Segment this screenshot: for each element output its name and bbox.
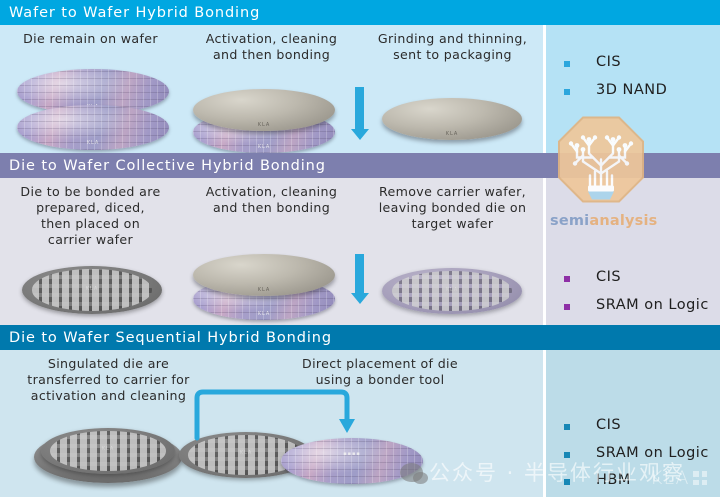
section-1-steps: Die remain on wafer KLA KLA Activation, … bbox=[0, 25, 543, 153]
step-direct-placement-of-die: Direct placement of die using a bonder t… bbox=[217, 350, 543, 497]
section-3-body: Singulated die are transferred to carrie… bbox=[0, 350, 720, 497]
bullet-square-icon bbox=[564, 479, 570, 485]
wafer-metal-upper: KLA bbox=[193, 89, 335, 131]
step-grinding-thinning: Grinding and thinning, sent to packaging… bbox=[362, 25, 543, 153]
application-label: CIS bbox=[596, 418, 621, 433]
wafer-target-iridescent: ▪▪▪▪ bbox=[281, 438, 423, 484]
kla-logo-text: KLA bbox=[650, 467, 689, 489]
applications-list: CIS SRAM on Logic bbox=[564, 270, 714, 325]
wafer-carrier-with-die: KLA bbox=[22, 266, 162, 314]
bullet-square-icon bbox=[564, 424, 570, 430]
section-2-steps: Die to be bonded are prepared, diced, th… bbox=[0, 178, 543, 325]
section-3-steps: Singulated die are transferred to carrie… bbox=[0, 350, 543, 497]
kla-wafer-mark: KLA bbox=[258, 311, 271, 317]
wordmark-semi: semi bbox=[550, 213, 589, 229]
semianalysis-logo-icon bbox=[557, 113, 645, 218]
kla-plus-icon bbox=[693, 471, 707, 485]
application-label: SRAM on Logic bbox=[596, 446, 709, 461]
applications-list: CIS 3D NAND bbox=[564, 55, 714, 110]
kla-wafer-mark: KLA bbox=[446, 287, 459, 293]
list-item: CIS bbox=[564, 270, 714, 285]
wafer-thinned: KLA bbox=[382, 98, 522, 140]
step-caption: Direct placement of die using a bonder t… bbox=[217, 356, 543, 388]
application-label: SRAM on Logic bbox=[596, 298, 709, 313]
step-caption: Singulated die are transferred to carrie… bbox=[0, 356, 217, 404]
wordmark-analysis: analysis bbox=[589, 213, 657, 229]
step-activation-cleaning-bonding: Activation, cleaning and then bonding KL… bbox=[181, 25, 362, 153]
application-label: 3D NAND bbox=[596, 83, 667, 98]
step-die-remain-on-wafer: Die remain on wafer KLA KLA bbox=[0, 25, 181, 153]
step-die-prepared-diced: Die to be bonded are prepared, diced, th… bbox=[0, 178, 181, 325]
bullet-square-icon bbox=[564, 276, 570, 282]
kla-wafer-mark: KLA bbox=[258, 144, 271, 150]
application-label: CIS bbox=[596, 55, 621, 70]
kla-wafer-mark: KLA bbox=[446, 131, 459, 137]
step-caption: Grinding and thinning, sent to packaging bbox=[362, 31, 543, 63]
bullet-square-icon bbox=[564, 304, 570, 310]
kla-wafer-mark: KLA bbox=[86, 286, 99, 292]
section-die-to-wafer-sequential: Die to Wafer Sequential Hybrid Bonding S… bbox=[0, 325, 720, 497]
wafer-iridescent-bottom: KLA bbox=[17, 105, 169, 150]
list-item: SRAM on Logic bbox=[564, 446, 714, 461]
step-caption: Activation, cleaning and then bonding bbox=[181, 31, 362, 63]
section-3-title: Die to Wafer Sequential Hybrid Bonding bbox=[0, 325, 720, 350]
hybrid-bonding-infographic: Wafer to Wafer Hybrid Bonding Die remain… bbox=[0, 0, 720, 497]
kla-wafer-mark: ▪▪▪▪ bbox=[343, 451, 361, 457]
wafer-metal-upper: KLA bbox=[193, 254, 335, 296]
kla-wafer-mark: KLA bbox=[258, 287, 271, 293]
application-label: CIS bbox=[596, 270, 621, 285]
step-caption: Remove carrier wafer, leaving bonded die… bbox=[362, 184, 543, 232]
step-singulated-die-transferred: Singulated die are transferred to carrie… bbox=[0, 350, 217, 497]
wafer-bonded-die-on-target: KLA bbox=[382, 268, 522, 314]
section-1-title: Wafer to Wafer Hybrid Bonding bbox=[0, 0, 720, 25]
bullet-square-icon bbox=[564, 89, 570, 95]
application-label: HBM bbox=[596, 473, 631, 488]
step-remove-carrier-wafer: Remove carrier wafer, leaving bonded die… bbox=[362, 178, 543, 325]
semianalysis-wordmark: semianalysis bbox=[550, 213, 654, 229]
list-item: CIS bbox=[564, 418, 714, 433]
kla-wafer-mark: KLA bbox=[258, 122, 271, 128]
list-item: 3D NAND bbox=[564, 83, 714, 98]
list-item: SRAM on Logic bbox=[564, 298, 714, 313]
step-caption: Die to be bonded are prepared, diced, th… bbox=[0, 184, 181, 248]
bullet-square-icon bbox=[564, 452, 570, 458]
list-item: CIS bbox=[564, 55, 714, 70]
step-caption: Die remain on wafer bbox=[0, 31, 181, 47]
kla-wafer-mark: KLA bbox=[102, 446, 115, 452]
step-activation-cleaning-bonding: Activation, cleaning and then bonding KL… bbox=[181, 178, 362, 325]
step-caption: Activation, cleaning and then bonding bbox=[181, 184, 362, 216]
kla-wafer-mark: KLA bbox=[87, 140, 100, 146]
wafer-carrier-with-die: KLA bbox=[41, 428, 175, 474]
placement-arrow-icon bbox=[191, 388, 371, 440]
kla-wafer-mark: KLA bbox=[240, 450, 253, 456]
kla-logo: KLA bbox=[650, 466, 712, 490]
bullet-square-icon bbox=[564, 61, 570, 67]
